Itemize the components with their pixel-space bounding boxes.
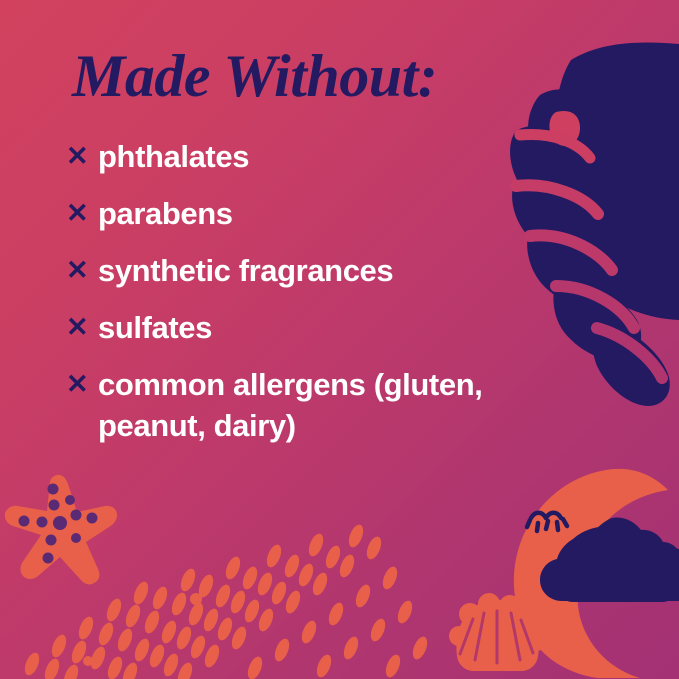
page-title: Made Without: <box>72 46 437 106</box>
list-item: ✕ synthetic fragrances <box>66 250 606 291</box>
list-item-label: sulfates <box>98 307 212 348</box>
cross-icon: ✕ <box>66 250 98 291</box>
cross-icon: ✕ <box>66 307 98 348</box>
list-item-label: common allergens (gluten, peanut, dairy) <box>98 364 553 446</box>
list-item: ✕ common allergens (gluten, peanut, dair… <box>66 364 606 446</box>
list-item-label: synthetic fragrances <box>98 250 393 291</box>
list-item-label: parabens <box>98 193 233 234</box>
cross-icon: ✕ <box>66 136 98 177</box>
list-item: ✕ sulfates <box>66 307 606 348</box>
made-without-list: ✕ phthalates ✕ parabens ✕ synthetic frag… <box>66 136 606 462</box>
list-item: ✕ phthalates <box>66 136 606 177</box>
list-item: ✕ parabens <box>66 193 606 234</box>
list-item-label: phthalates <box>98 136 249 177</box>
made-without-graphic: Made Without: ✕ phthalates ✕ parabens ✕ … <box>0 0 679 679</box>
cross-icon: ✕ <box>66 364 98 405</box>
cross-icon: ✕ <box>66 193 98 234</box>
